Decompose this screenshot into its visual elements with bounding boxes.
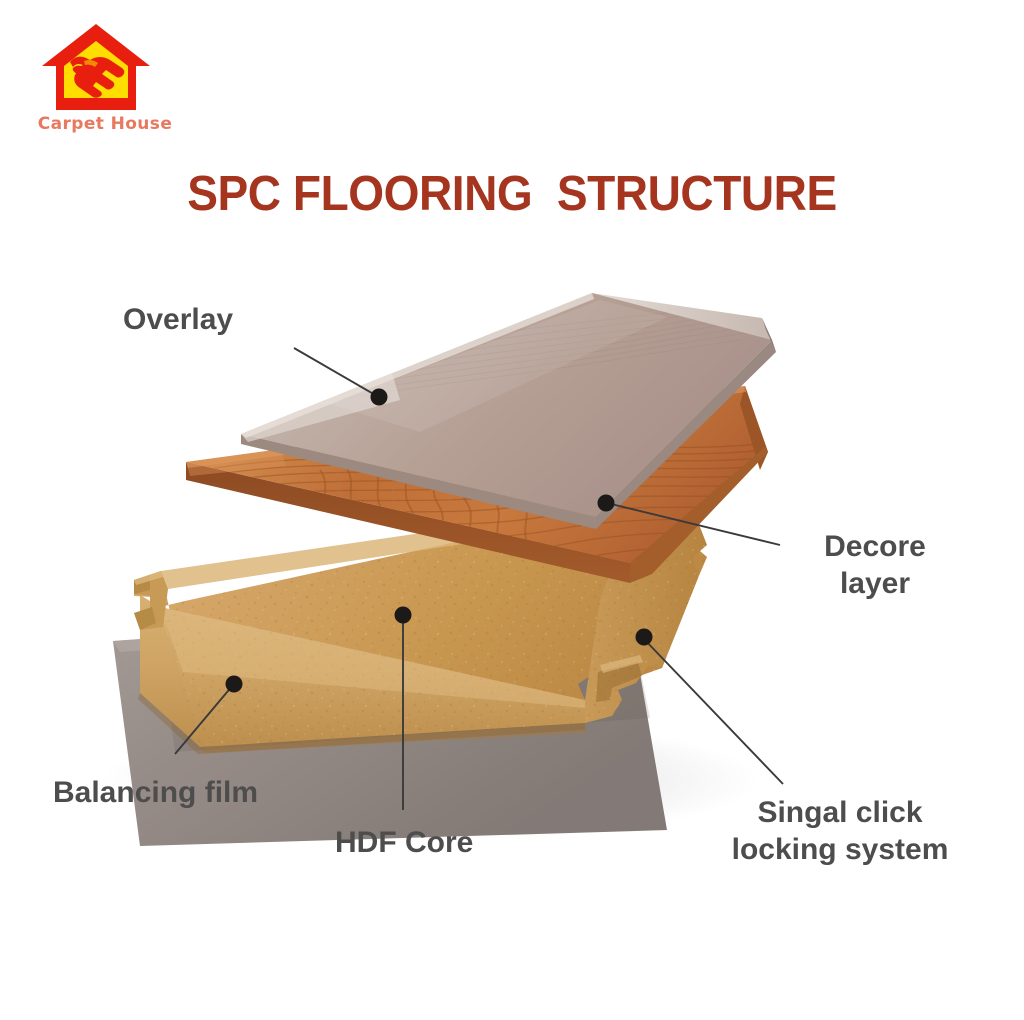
dot-locking-system xyxy=(636,629,653,646)
callout-label-locking-system: Singal click locking system xyxy=(710,795,970,868)
callout-label-hdf-core: HDF Core xyxy=(335,825,473,862)
dot-decore xyxy=(598,495,615,512)
callout-label-balancing-film: Balancing film xyxy=(53,775,258,812)
callout-label-decore-layer: Decore layer xyxy=(790,529,960,602)
dot-overlay xyxy=(371,389,388,406)
click-lock-groove-profile xyxy=(134,571,168,630)
poster-canvas: Carpet House SPC FLOORING STRUCTURE xyxy=(0,0,1024,1020)
callout-label-overlay: Overlay xyxy=(123,302,233,339)
dot-balancing-film xyxy=(226,676,243,693)
dot-hdf-core xyxy=(395,607,412,624)
leader-overlay xyxy=(294,348,377,396)
